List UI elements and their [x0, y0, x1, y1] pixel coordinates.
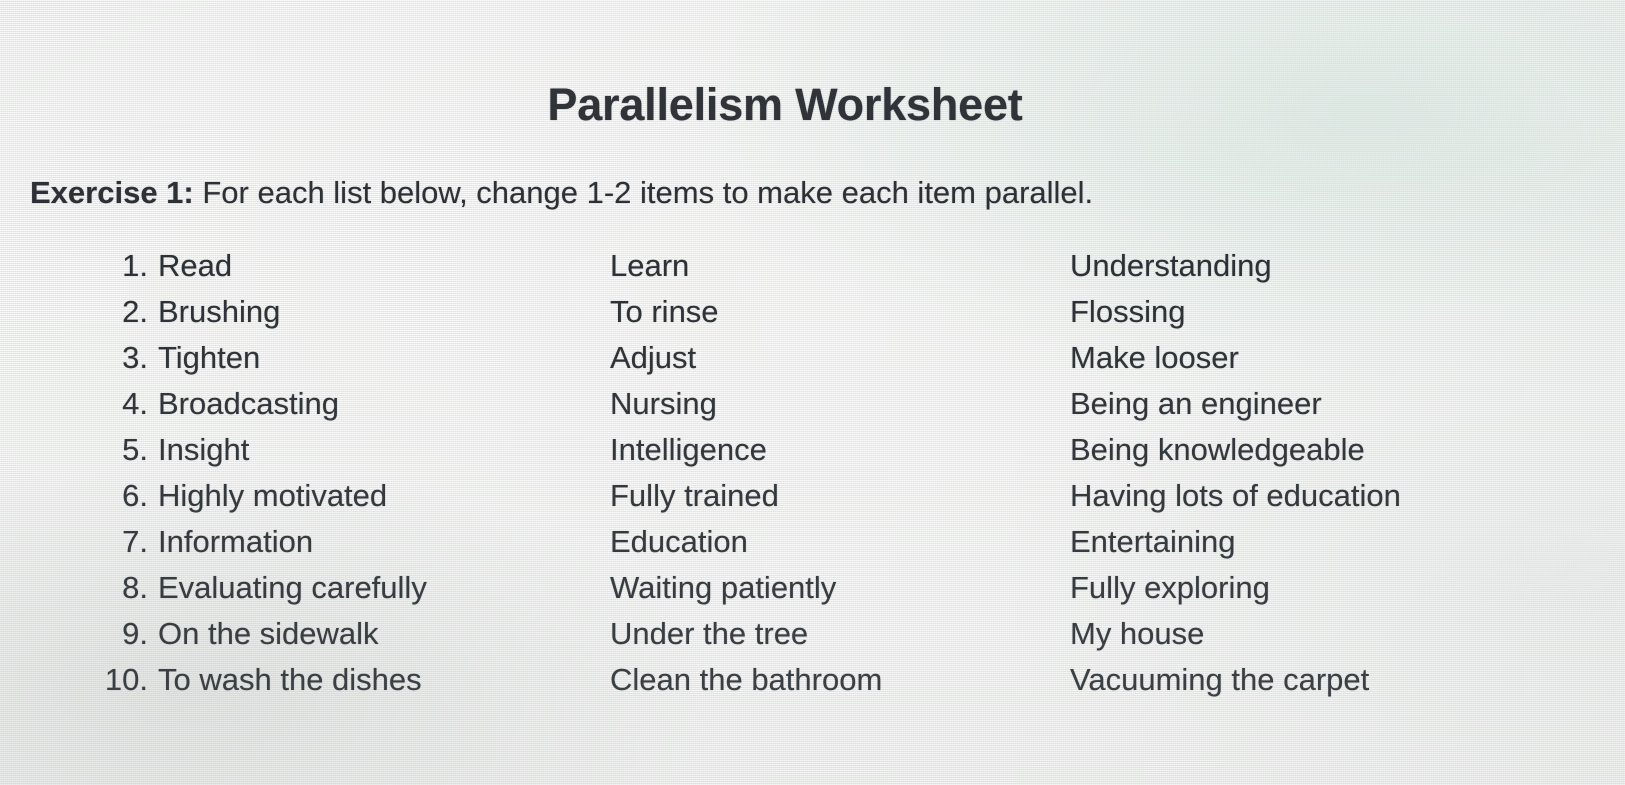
list-item: Adjust	[610, 335, 1050, 381]
list-item: 4.Broadcasting	[96, 381, 566, 427]
exercise-directions: For each list below, change 1-2 items to…	[194, 175, 1093, 210]
list-item-text: Highly motivated	[148, 473, 387, 519]
worksheet-content: Parallelism Worksheet Exercise 1: For ea…	[0, 0, 1625, 785]
list-item: Education	[610, 519, 1050, 565]
list-item: Nursing	[610, 381, 1050, 427]
list-item: 1.Read	[96, 243, 566, 289]
list-item: Clean the bathroom	[610, 657, 1050, 703]
list-item-text: Information	[148, 519, 313, 565]
list-item: 10.To wash the dishes	[96, 657, 566, 703]
list-item: 5.Insight	[96, 427, 566, 473]
list-item: Vacuuming the carpet	[1070, 657, 1590, 703]
list-item: Fully exploring	[1070, 565, 1590, 611]
list-number: 3.	[96, 335, 148, 381]
exercise-label: Exercise 1:	[30, 175, 194, 210]
list-item: Intelligence	[610, 427, 1050, 473]
list-column-three: Understanding Flossing Make looser Being…	[1070, 243, 1590, 703]
exercise-instruction: Exercise 1: For each list below, change …	[30, 175, 1093, 211]
list-number: 2.	[96, 289, 148, 335]
list-item-text: Tighten	[148, 335, 260, 381]
list-item: Understanding	[1070, 243, 1590, 289]
list-item: 3.Tighten	[96, 335, 566, 381]
list-item-text: Broadcasting	[148, 381, 339, 427]
list-number: 8.	[96, 565, 148, 611]
list-item: Having lots of education	[1070, 473, 1590, 519]
list-number: 4.	[96, 381, 148, 427]
list-number: 7.	[96, 519, 148, 565]
list-item-text: Evaluating carefully	[148, 565, 427, 611]
list-item: Being knowledgeable	[1070, 427, 1590, 473]
list-item-text: Insight	[148, 427, 249, 473]
list-item-text: To wash the dishes	[148, 657, 422, 703]
list-item: 6.Highly motivated	[96, 473, 566, 519]
list-item: My house	[1070, 611, 1590, 657]
list-item: Flossing	[1070, 289, 1590, 335]
list-item-text: Read	[148, 243, 232, 289]
list-item: Under the tree	[610, 611, 1050, 657]
list-item: To rinse	[610, 289, 1050, 335]
list-item: Learn	[610, 243, 1050, 289]
page-title: Parallelism Worksheet	[0, 79, 1570, 131]
list-number: 9.	[96, 611, 148, 657]
list-number: 10.	[96, 657, 148, 703]
list-number: 5.	[96, 427, 148, 473]
list-item: 2.Brushing	[96, 289, 566, 335]
list-item: 8.Evaluating carefully	[96, 565, 566, 611]
list-column-one: 1.Read 2.Brushing 3.Tighten 4.Broadcasti…	[96, 243, 566, 703]
worksheet-page: Parallelism Worksheet Exercise 1: For ea…	[0, 0, 1625, 785]
list-item-text: On the sidewalk	[148, 611, 379, 657]
list-item: Waiting patiently	[610, 565, 1050, 611]
list-item: Being an engineer	[1070, 381, 1590, 427]
list-number: 6.	[96, 473, 148, 519]
list-column-two: Learn To rinse Adjust Nursing Intelligen…	[610, 243, 1050, 703]
list-item: 7.Information	[96, 519, 566, 565]
list-item-text: Brushing	[148, 289, 280, 335]
exercise-lists: 1.Read 2.Brushing 3.Tighten 4.Broadcasti…	[0, 243, 1625, 713]
list-item: 9.On the sidewalk	[96, 611, 566, 657]
list-item: Entertaining	[1070, 519, 1590, 565]
list-item: Make looser	[1070, 335, 1590, 381]
list-number: 1.	[96, 243, 148, 289]
list-item: Fully trained	[610, 473, 1050, 519]
